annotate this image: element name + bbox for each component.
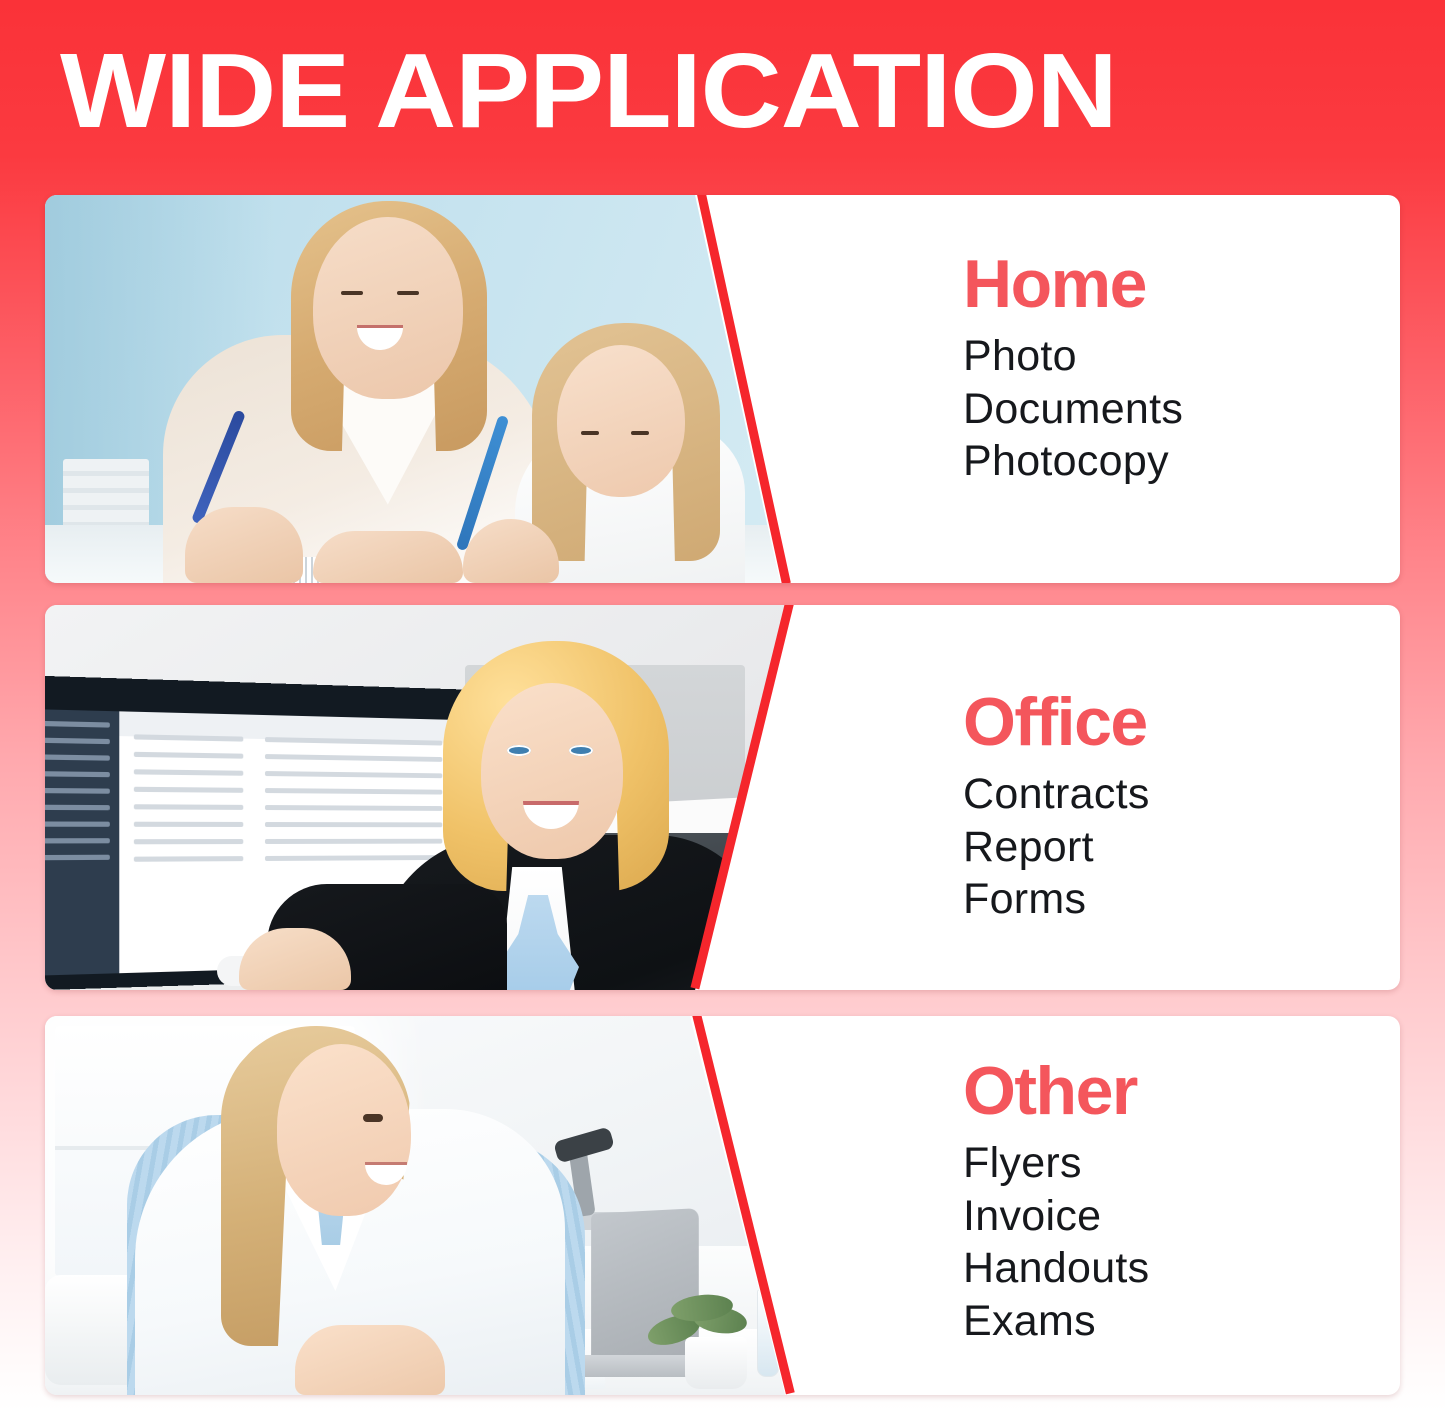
woman-head	[481, 683, 623, 859]
list-item: Handouts	[963, 1242, 1400, 1294]
card-photo-other	[45, 1016, 845, 1395]
list-item: Contracts	[963, 768, 1400, 820]
application-card-other: Other Flyers Invoice Handouts Exams	[45, 1016, 1400, 1395]
screen-column-left	[128, 722, 250, 976]
list-item: Documents	[963, 383, 1400, 435]
card-list-home: Photo Documents Photocopy	[963, 330, 1400, 487]
scene-lab-laptop	[45, 1016, 845, 1395]
list-item: Photocopy	[963, 435, 1400, 487]
scene-home-tutoring	[45, 195, 845, 583]
application-card-home: Home Photo Documents Photocopy	[45, 195, 1400, 583]
list-item: Photo	[963, 330, 1400, 382]
woman-hand-left	[185, 507, 303, 583]
woman-head	[313, 217, 463, 399]
woman-eye-right	[569, 745, 593, 756]
poster-header: WIDE APPLICATION	[0, 0, 1445, 180]
girl-eye-right	[631, 431, 649, 435]
woman-hand-right	[313, 531, 463, 583]
page-title: WIDE APPLICATION	[60, 38, 1117, 144]
list-item: Flyers	[963, 1137, 1400, 1189]
woman-eye	[363, 1114, 383, 1122]
card-heading-other: Other	[963, 1056, 1400, 1127]
book-stack	[63, 459, 149, 531]
screen-sidebar	[45, 709, 119, 976]
card-text-other: Other Flyers Invoice Handouts Exams	[845, 1016, 1400, 1395]
card-list-other: Flyers Invoice Handouts Exams	[963, 1137, 1400, 1347]
list-item: Invoice	[963, 1190, 1400, 1242]
card-text-office: Office Contracts Report Forms	[845, 605, 1400, 990]
list-item: Forms	[963, 873, 1400, 925]
card-photo-office	[45, 605, 845, 990]
woman-eye-right	[397, 291, 419, 295]
chair	[45, 1275, 135, 1385]
wide-application-poster: WIDE APPLICATION	[0, 0, 1445, 1411]
woman-clasped-hands	[295, 1325, 445, 1395]
girl-eye-left	[581, 431, 599, 435]
plant-pot	[685, 1337, 747, 1389]
woman-eye-left	[341, 291, 363, 295]
application-card-office: Office Contracts Report Forms	[45, 605, 1400, 990]
card-text-home: Home Photo Documents Photocopy	[845, 195, 1400, 583]
girl-head	[557, 345, 685, 497]
card-photo-home	[45, 195, 845, 583]
list-item: Exams	[963, 1295, 1400, 1347]
card-heading-home: Home	[963, 249, 1400, 320]
woman-eye-left	[507, 745, 531, 756]
woman-head	[277, 1044, 411, 1216]
list-item: Report	[963, 821, 1400, 873]
card-list-office: Contracts Report Forms	[963, 768, 1400, 925]
card-heading-office: Office	[963, 687, 1400, 758]
scene-office-desk	[45, 605, 845, 990]
